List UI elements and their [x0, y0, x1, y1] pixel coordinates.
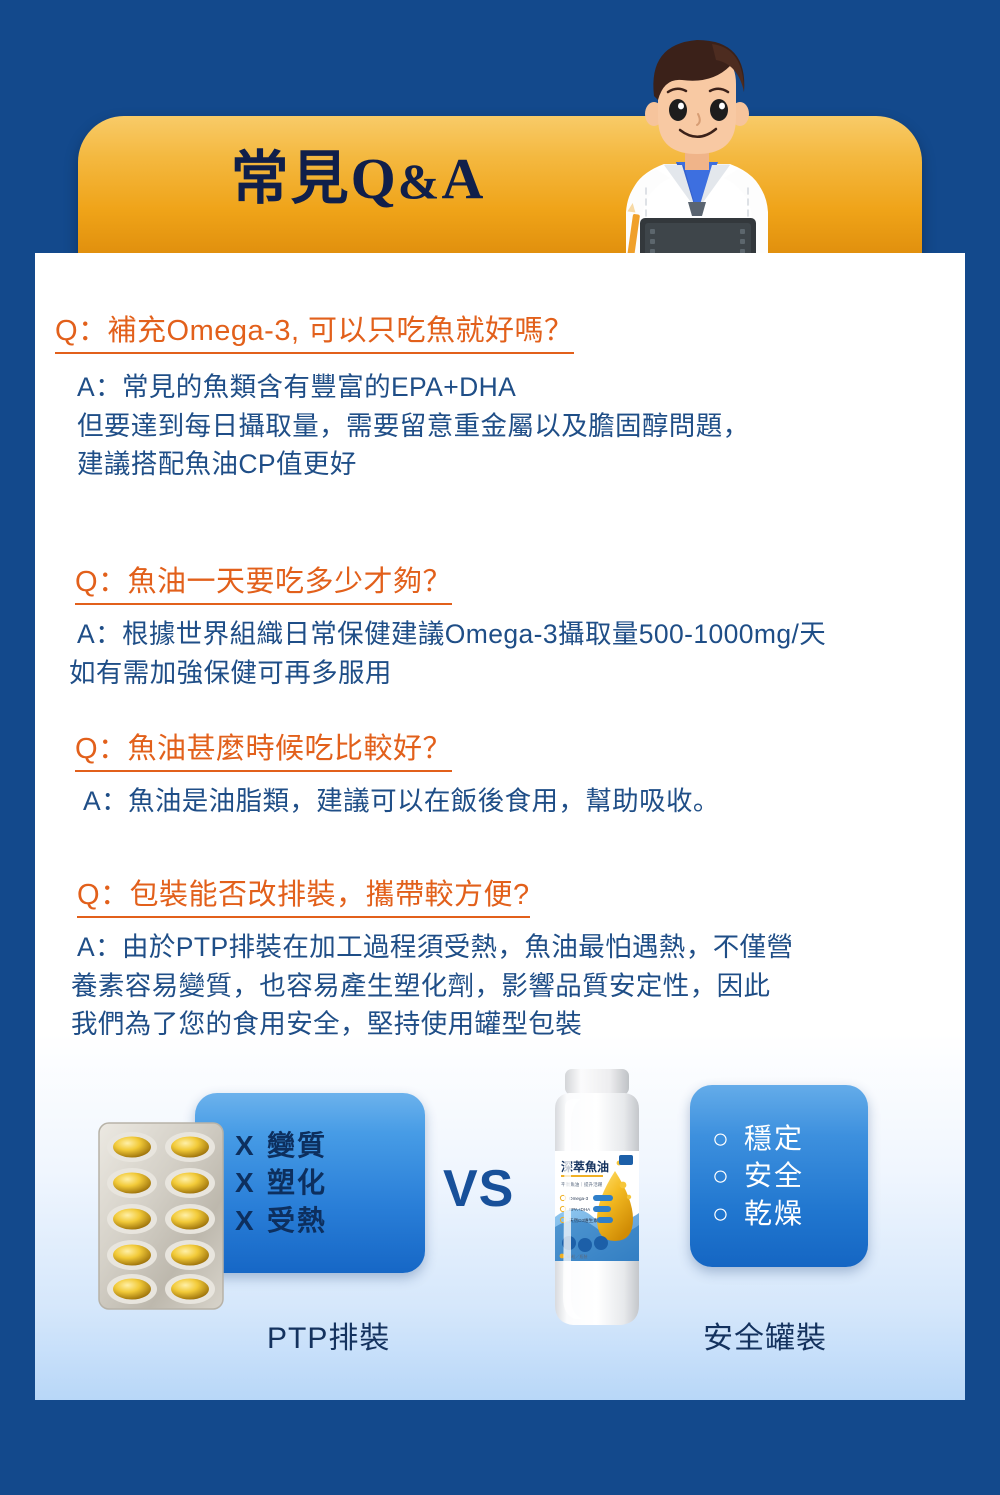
- benefit-label: 乾燥: [744, 1198, 804, 1229]
- faq-answer-line: 建議搭配魚油CP值更好: [77, 445, 965, 484]
- benefit-label: 安全: [744, 1160, 804, 1191]
- benefit-item: ○乾燥: [712, 1195, 868, 1232]
- drawback-item: X受熱: [235, 1202, 425, 1239]
- faq-item: Q：包裝能否改排裝，攜帶較方便? A：由於PTP排裝在加工過程須受熱，魚油最怕遇…: [35, 871, 965, 1044]
- x-mark-icon: X: [235, 1164, 267, 1201]
- svg-text:Omega-3: Omega-3: [569, 1196, 589, 1201]
- faq-question: Q：魚油甚麼時候吃比較好？: [75, 725, 452, 772]
- header-banner: 常見Q&A: [78, 116, 922, 256]
- can-benefits-box: ○穩定 ○安全 ○乾燥: [690, 1085, 868, 1267]
- content-panel: Q：補充Omega-3, 可以只吃魚就好嗎？ A：常見的魚類含有豐富的EPA+D…: [35, 253, 965, 1400]
- faq-answer-line: 養素容易變質，也容易產生塑化劑，影響品質安定性，因此: [71, 967, 965, 1006]
- drawback-label: 變質: [267, 1130, 327, 1161]
- circle-mark-icon: ○: [712, 1157, 744, 1194]
- benefit-label: 穩定: [744, 1123, 804, 1154]
- faq-item: Q：魚油甚麼時候吃比較好？ A：魚油是油脂類，建議可以在飯後食用，幫助吸收。: [35, 725, 965, 821]
- ptp-blister-pack-image: [97, 1121, 225, 1311]
- drawback-item: X塑化: [235, 1164, 425, 1201]
- x-mark-icon: X: [235, 1202, 267, 1239]
- ptp-caption: PTP排裝: [267, 1313, 390, 1357]
- faq-item: Q：魚油一天要吃多少才夠？ A：根據世界組織日常保健建議Omega-3攝取量50…: [35, 558, 965, 692]
- page-title-cjk: 常見: [231, 146, 351, 211]
- vs-label: VS: [443, 1159, 514, 1219]
- page-title: 常見Q&A: [78, 150, 638, 208]
- drawback-label: 塑化: [267, 1167, 327, 1198]
- benefit-item: ○穩定: [712, 1120, 868, 1157]
- circle-mark-icon: ○: [712, 1195, 744, 1232]
- svg-text:EPA+DHA: EPA+DHA: [569, 1207, 591, 1212]
- drawback-label: 受熱: [267, 1205, 327, 1236]
- faq-question: Q：補充Omega-3, 可以只吃魚就好嗎？: [55, 307, 574, 354]
- drawback-item: X變質: [235, 1127, 425, 1164]
- faq-answer-line: A：根據世界組織日常保健建議Omega-3攝取量500-1000mg/天: [77, 615, 965, 654]
- benefit-item: ○安全: [712, 1157, 868, 1194]
- page-title-a: A: [441, 146, 485, 211]
- x-mark-icon: X: [235, 1127, 267, 1164]
- faq-question: Q：魚油一天要吃多少才夠？: [75, 558, 452, 605]
- faq-answer-line: A：魚油是油脂類，建議可以在飯後食用，幫助吸收。: [83, 782, 965, 821]
- faq-answer-line: A：由於PTP排裝在加工過程須受熱，魚油最怕遇熱，不僅營: [77, 928, 965, 967]
- faq-answer-line: 我們為了您的食用安全，堅持使用罐型包裝: [71, 1005, 965, 1044]
- faq-item: Q：補充Omega-3, 可以只吃魚就好嗎？ A：常見的魚類含有豐富的EPA+D…: [35, 307, 965, 484]
- faq-answer-line: 如有需加強保健可再多服用: [69, 654, 965, 693]
- faq-question: Q：包裝能否改排裝，攜帶較方便?: [77, 871, 530, 918]
- faq-answer-line: 但要達到每日攝取量，需要留意重金屬以及膽固醇問題，: [77, 407, 965, 446]
- page-title-amp: &: [398, 153, 442, 209]
- packaging-comparison: X變質 X塑化 X受熱: [35, 1063, 965, 1400]
- ptp-drawbacks-box: X變質 X塑化 X受熱: [195, 1093, 425, 1273]
- circle-mark-icon: ○: [712, 1120, 744, 1157]
- fish-oil-bottle-image: 深萃魚油 平衡魚油｜提升活躍 Omega-3 EPA+DHA 天然D3維生素: [535, 1067, 659, 1329]
- faq-answer-line: A：常見的魚類含有豐富的EPA+DHA: [77, 368, 965, 407]
- can-caption: 安全罐裝: [703, 1313, 827, 1357]
- svg-text:天然D3維生素: 天然D3維生素: [569, 1217, 598, 1224]
- page-title-q: Q: [351, 146, 398, 211]
- infographic-page: 常見Q&A: [0, 0, 1000, 1495]
